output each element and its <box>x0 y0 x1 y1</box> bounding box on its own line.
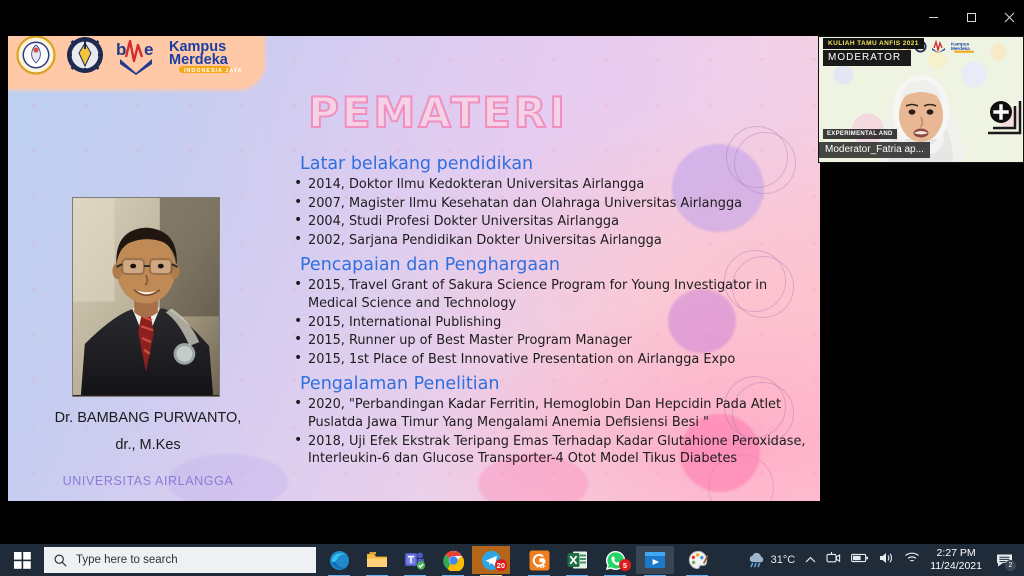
section-list: 2020, "Perbandingan Kadar Ferritin, Hemo… <box>292 396 812 467</box>
system-tray: 31°C <box>747 544 1024 576</box>
list-item: 2018, Uji Efek Ekstrak Teripang Emas Ter… <box>292 433 812 468</box>
clock-button[interactable]: 2:27 PM 11/24/2021 <box>930 547 982 573</box>
section-research: Pengalaman Penelitian 2020, "Perbandinga… <box>292 374 812 467</box>
pdf-converter-icon: PDF <box>529 550 550 571</box>
kampus-merdeka-logo: Kampus Merdeka INDONESIA JAYA <box>167 36 245 80</box>
video-participant-tile[interactable]: KampusMerdeka KULIAH TAMU ANFIS 2021 MOD… <box>818 36 1024 163</box>
kampus-merdeka-logo-small: KampusMerdeka <box>950 40 980 53</box>
taskbar-app-pdf-converter[interactable]: PDF <box>520 546 558 574</box>
wifi-tray-icon[interactable] <box>904 551 920 569</box>
taskbar-app-chrome[interactable] <box>434 546 472 574</box>
list-item: 2002, Sarjana Pendidikan Dokter Universi… <box>292 232 812 250</box>
logo-banner: b e Kampus Merdeka INDONESIA JAYA <box>8 36 264 89</box>
role-tag: MODERATOR <box>823 50 911 66</box>
section-list: 2015, Travel Grant of Sakura Science Pro… <box>292 277 812 368</box>
notification-badge: 20 <box>495 559 507 571</box>
list-item: 2015, Runner up of Best Master Program M… <box>292 332 812 350</box>
folder-icon <box>366 550 388 570</box>
desktop: b e Kampus Merdeka INDONESIA JAYA PEMATE… <box>0 0 1024 576</box>
section-heading: Latar belakang pendidikan <box>300 154 812 174</box>
movies-tv-icon <box>644 550 666 570</box>
taskbar-app-file-explorer[interactable] <box>358 546 396 574</box>
taskbar-app-excel[interactable] <box>558 546 596 574</box>
camera-tray-icon[interactable] <box>826 551 841 570</box>
speaker-name-line2: dr., M.Kes <box>8 437 288 453</box>
participant-name-label: Moderator_Fatria ap... <box>819 142 930 158</box>
section-achievements: Pencapaian dan Penghargaan 2015, Travel … <box>292 255 812 368</box>
presentation-slide[interactable]: b e Kampus Merdeka INDONESIA JAYA PEMATE… <box>8 36 820 501</box>
search-input[interactable]: Type here to search <box>44 547 316 573</box>
taskbar-app-movies-tv[interactable] <box>636 546 674 574</box>
list-item: 2020, "Perbandingan Kadar Ferritin, Hemo… <box>292 396 812 431</box>
close-button[interactable] <box>988 0 1024 34</box>
taskbar-app-telegram[interactable]: 20 <box>472 546 510 574</box>
restore-button[interactable] <box>950 0 992 34</box>
slide-content: Latar belakang pendidikan 2014, Doktor I… <box>292 148 812 469</box>
battery-tray-icon[interactable] <box>851 551 869 569</box>
section-list: 2014, Doktor Ilmu Kedokteran Universitas… <box>292 176 812 249</box>
event-tag: KULIAH TAMU ANFIS 2021 <box>823 38 924 49</box>
paint-icon <box>687 550 708 570</box>
teams-icon <box>404 550 426 570</box>
svg-text:INDONESIA JAYA: INDONESIA JAYA <box>184 68 243 74</box>
taskbar-app-whatsapp[interactable]: 5 <box>596 546 634 574</box>
start-button[interactable] <box>0 544 44 576</box>
chrome-icon <box>443 550 464 571</box>
volume-tray-icon[interactable] <box>879 551 894 570</box>
speaker-photo <box>72 197 220 397</box>
list-item: 2007, Magister Ilmu Kesehatan dan Olahra… <box>292 195 812 213</box>
minimize-button[interactable] <box>912 0 954 34</box>
excel-icon <box>567 550 588 570</box>
section-education: Latar belakang pendidikan 2014, Doktor I… <box>292 154 812 249</box>
clock-date: 11/24/2021 <box>930 560 982 573</box>
unair-logo <box>16 36 56 80</box>
search-placeholder: Type here to search <box>76 554 178 566</box>
overlay-tag: EXPERIMENTAL AND <box>823 129 897 139</box>
windows-taskbar: Type here to search <box>0 544 1024 576</box>
speaker-organization: UNIVERSITAS AIRLANGGA <box>8 474 288 488</box>
edge-icon <box>329 550 350 571</box>
bme-logo-small <box>931 40 946 53</box>
list-item: 2014, Doktor Ilmu Kedokteran Universitas… <box>292 176 812 194</box>
windows-logo-icon <box>14 552 31 569</box>
speaker-name-line1: Dr. BAMBANG PURWANTO, <box>8 410 288 426</box>
window-titlebar <box>0 0 1024 34</box>
taskbar-app-edge[interactable] <box>320 546 358 574</box>
svg-text:b: b <box>116 40 126 59</box>
clock-time: 2:27 PM <box>930 547 982 560</box>
svg-text:Merdeka: Merdeka <box>951 46 970 51</box>
weather-temperature: 31°C <box>771 554 796 566</box>
zoom-in-icon[interactable] <box>984 97 1024 147</box>
weather-widget[interactable]: 31°C <box>747 552 796 568</box>
list-item: 2004, Studi Profesi Dokter Universitas A… <box>292 213 812 231</box>
taskbar-app-paint[interactable] <box>678 546 716 574</box>
its-logo <box>65 36 105 80</box>
notification-count: 2 <box>1005 560 1016 571</box>
bme-logo: b e <box>114 36 158 80</box>
section-heading: Pencapaian dan Penghargaan <box>300 255 812 275</box>
svg-text:Merdeka: Merdeka <box>169 52 229 68</box>
rain-cloud-icon <box>747 552 766 568</box>
slide-title: PEMATERI <box>308 88 568 137</box>
notification-badge: 5 <box>619 559 631 571</box>
action-center-button[interactable]: 2 <box>992 548 1016 572</box>
search-icon <box>54 554 67 567</box>
taskbar-app-teams[interactable] <box>396 546 434 574</box>
show-hidden-icons-button[interactable] <box>805 551 816 569</box>
list-item: 2015, International Publishing <box>292 314 812 332</box>
list-item: 2015, 1st Place of Best Innovative Prese… <box>292 351 812 369</box>
svg-text:PDF: PDF <box>536 564 545 569</box>
list-item: 2015, Travel Grant of Sakura Science Pro… <box>292 277 812 312</box>
section-heading: Pengalaman Penelitian <box>300 374 812 394</box>
svg-text:e: e <box>144 40 153 59</box>
